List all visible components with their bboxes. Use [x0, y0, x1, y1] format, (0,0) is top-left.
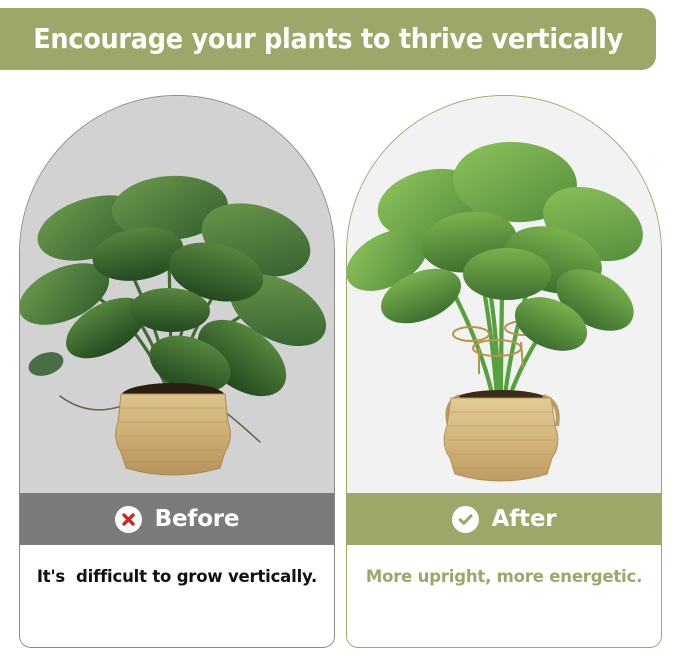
- plant-upright-illustration: [347, 96, 661, 493]
- after-caption: More upright, more energetic.: [347, 545, 661, 648]
- before-caption-text: It's difficult to grow vertically.: [37, 567, 317, 586]
- infographic-root: Encourage your plants to thrive vertical…: [0, 0, 679, 663]
- plant-drooping-illustration: [20, 96, 334, 493]
- after-label-bar: After: [347, 493, 661, 545]
- before-photo: [20, 96, 334, 493]
- check-circle-icon: [452, 506, 479, 533]
- before-caption: It's difficult to grow vertically.: [20, 545, 334, 648]
- header-banner: Encourage your plants to thrive vertical…: [0, 8, 656, 70]
- before-label-bar: Before: [20, 493, 334, 545]
- page-title: Encourage your plants to thrive vertical…: [33, 23, 623, 55]
- x-circle-icon: [115, 506, 142, 533]
- panel-after: After More upright, more energetic.: [346, 95, 662, 648]
- before-label: Before: [155, 506, 240, 532]
- panel-before: Before It's difficult to grow vertically…: [19, 95, 335, 648]
- after-caption-text: More upright, more energetic.: [366, 567, 642, 586]
- after-label: After: [492, 506, 557, 532]
- after-photo: [347, 96, 661, 493]
